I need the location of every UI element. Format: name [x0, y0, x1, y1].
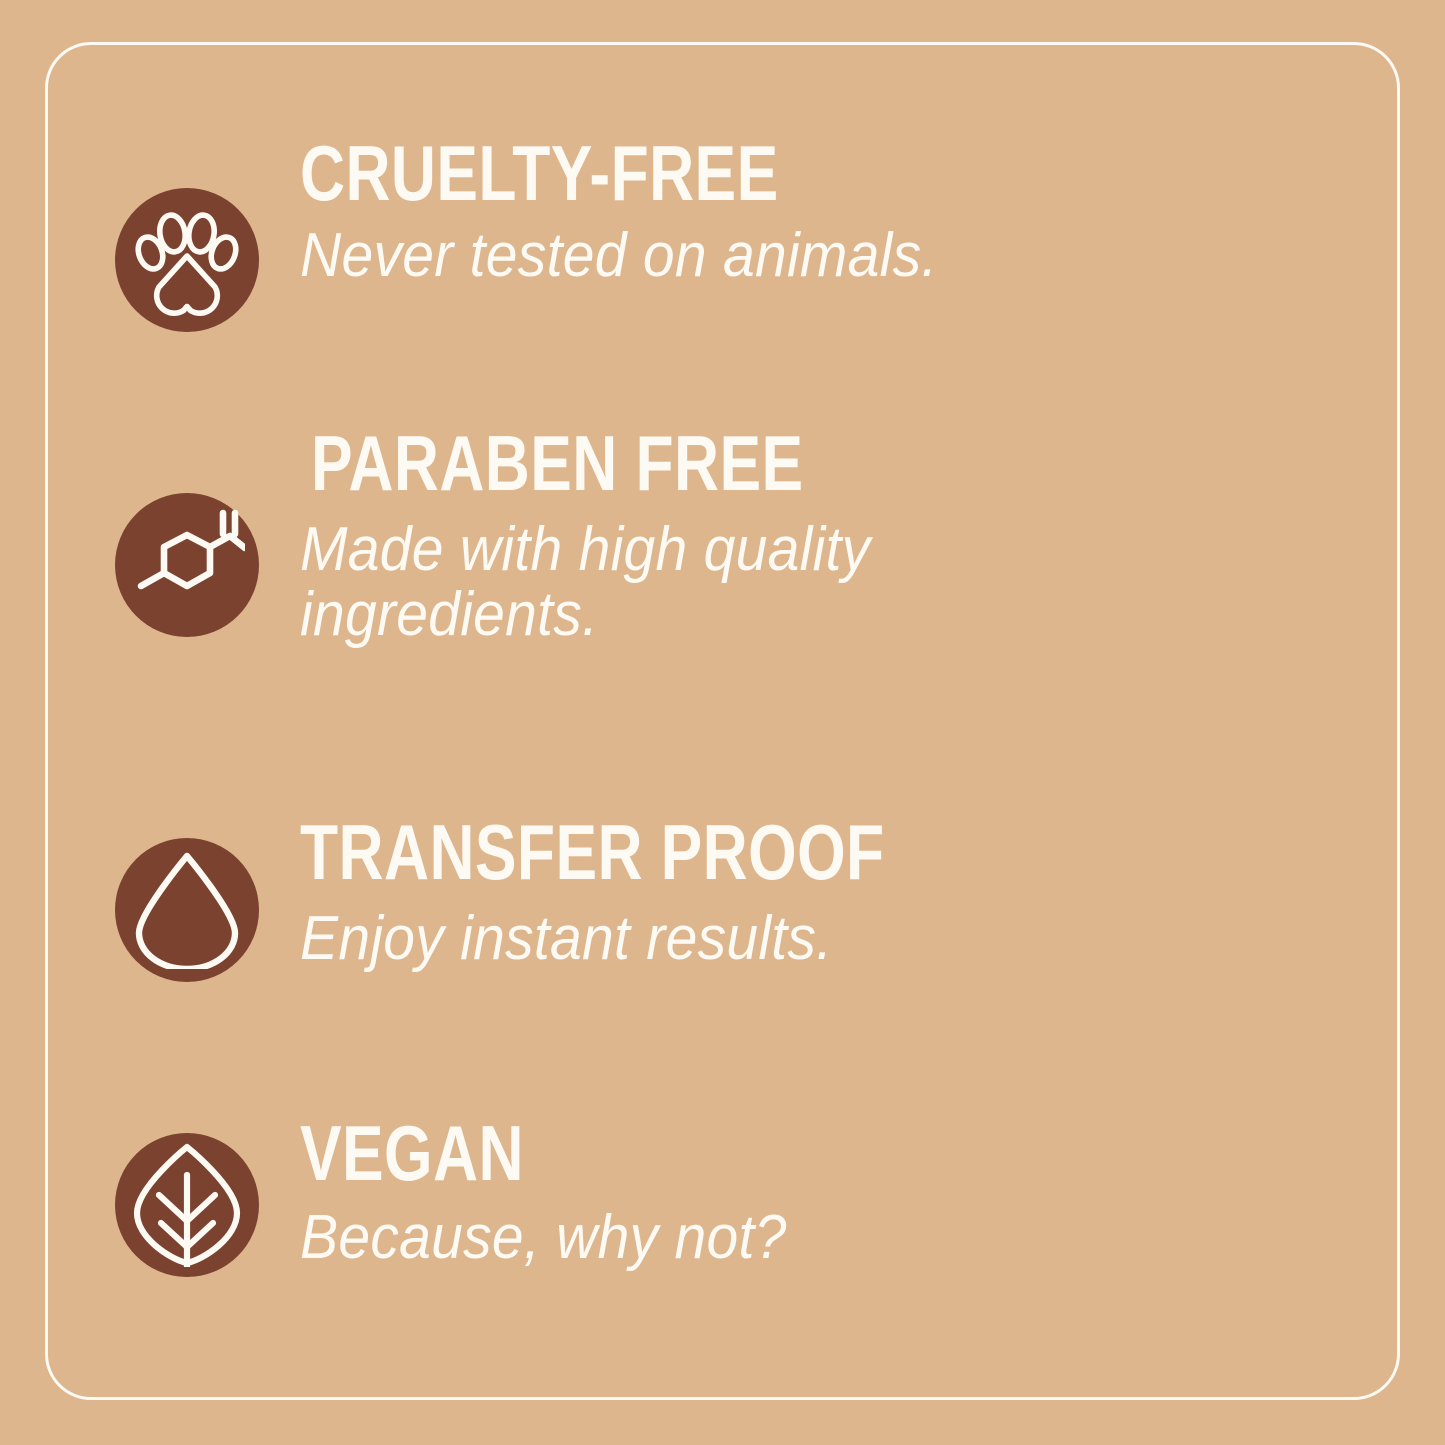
- feature-heading: PARABEN FREE: [311, 431, 1239, 497]
- feature-text: CRUELTY-FREE Never tested on animals.: [300, 141, 1445, 288]
- feature-icon-badge: [115, 188, 259, 332]
- feature-heading: VEGAN: [300, 1121, 1228, 1187]
- leaf-icon: [129, 1143, 245, 1267]
- feature-subtitle: Never tested on animals.: [300, 223, 1367, 288]
- paw-print-icon: [131, 204, 243, 316]
- feature-heading: CRUELTY-FREE: [300, 141, 1228, 207]
- feature-subtitle: Enjoy instant results.: [300, 906, 1367, 971]
- molecule-icon: [129, 507, 245, 623]
- feature-list: CRUELTY-FREE Never tested on animals.: [0, 0, 1445, 1445]
- feature-icon-badge: [115, 493, 259, 637]
- feature-subtitle: Made with high quality ingredients.: [300, 517, 1036, 647]
- feature-text: TRANSFER PROOF Enjoy instant results.: [300, 820, 1445, 971]
- feature-icon-badge: [115, 1133, 259, 1277]
- feature-text: VEGAN Because, why not?: [300, 1121, 1445, 1270]
- feature-text: PARABEN FREE Made with high quality ingr…: [311, 431, 1445, 647]
- feature-icon-badge: [115, 838, 259, 982]
- feature-heading: TRANSFER PROOF: [300, 820, 1228, 886]
- feature-subtitle: Because, why not?: [300, 1205, 1367, 1270]
- water-droplet-icon: [133, 851, 241, 969]
